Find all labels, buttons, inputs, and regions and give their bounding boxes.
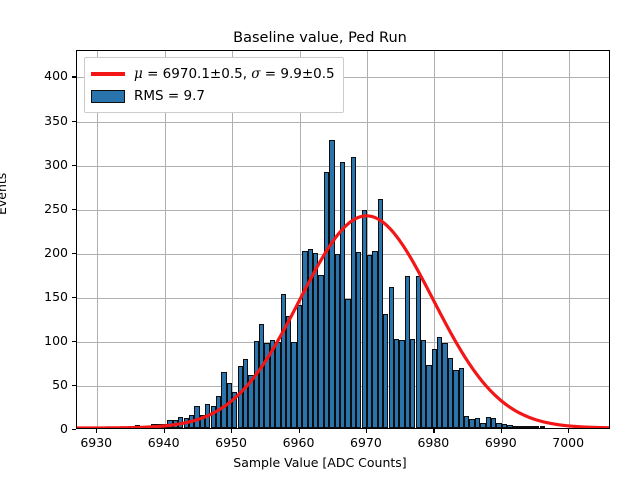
x-tick-label: 7000 [538,435,598,450]
y-tick-label: 50 [22,377,68,392]
x-tick-mark [96,429,97,433]
y-tick-label: 100 [22,333,68,348]
y-tick-label: 350 [22,113,68,128]
x-tick-label: 6940 [134,435,194,450]
x-tick-label: 6930 [66,435,126,450]
y-axis-label: Events [0,173,9,215]
y-tick-label: 200 [22,245,68,260]
x-tick-mark [164,429,165,433]
y-tick-label: 0 [22,421,68,436]
y-tick-label: 150 [22,289,68,304]
x-tick-label: 6950 [201,435,261,450]
x-tick-label: 6980 [403,435,463,450]
y-tick-label: 400 [22,68,68,83]
page-title: Baseline value, Ped Run [0,30,640,46]
legend-item-hist: RMS = 9.7 [91,85,335,107]
x-tick-label: 6960 [269,435,329,450]
x-tick-mark [299,429,300,433]
y-tick-label: 300 [22,157,68,172]
x-tick-mark [231,429,232,433]
legend: μ = 6970.1±0.5, σ = 9.9±0.5 RMS = 9.7 [84,57,344,113]
matplotlib-figure: Baseline value, Ped Run Events Sample Va… [0,0,640,480]
x-tick-label: 6990 [471,435,531,450]
fit-line-swatch-icon [91,72,125,75]
y-tick-mark [72,429,76,430]
x-tick-mark [433,429,434,433]
x-axis-label: Sample Value [ADC Counts] [0,455,640,470]
histogram-patch-swatch-icon [91,90,125,103]
x-tick-mark [501,429,502,433]
legend-fit-label: μ = 6970.1±0.5, σ = 9.9±0.5 [134,66,335,82]
fit-path [77,216,609,428]
x-tick-label: 6970 [336,435,396,450]
x-tick-mark [366,429,367,433]
y-tick-label: 250 [22,201,68,216]
legend-item-fit: μ = 6970.1±0.5, σ = 9.9±0.5 [91,63,335,85]
x-tick-mark [568,429,569,433]
legend-rms-label: RMS = 9.7 [134,88,205,104]
